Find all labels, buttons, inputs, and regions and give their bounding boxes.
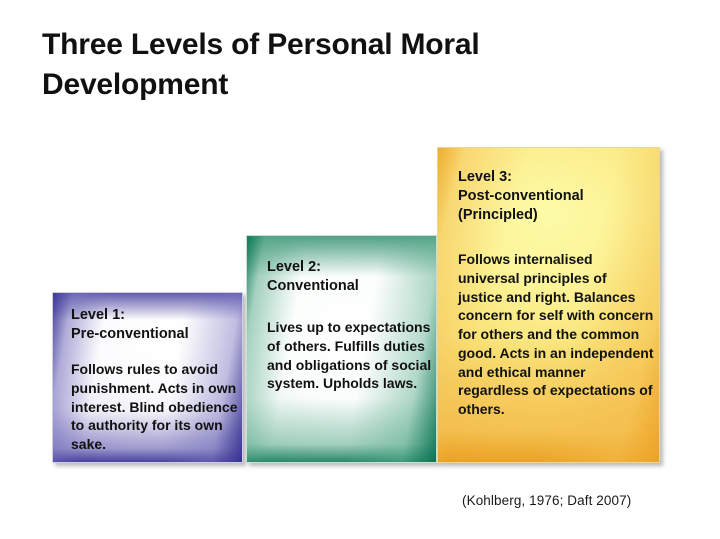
level-3-body: Follows internalised universal principle… bbox=[458, 250, 654, 419]
level-1-body: Follows rules to avoid punishment. Acts … bbox=[71, 360, 241, 454]
level-1-heading: Level 1: Pre-conventional bbox=[71, 306, 239, 344]
slide-canvas: Three Levels of Personal Moral Developme… bbox=[0, 0, 720, 539]
level-2-body: Lives up to expectations of others. Fulf… bbox=[267, 318, 437, 393]
level-2-box[interactable]: Level 2: Conventional Lives up to expect… bbox=[246, 235, 437, 463]
level-1-box[interactable]: Level 1: Pre-conventional Follows rules … bbox=[52, 292, 243, 463]
level-3-box[interactable]: Level 3: Post-conventional (Principled) … bbox=[437, 147, 660, 463]
level-2-heading: Level 2: Conventional bbox=[267, 258, 435, 296]
level-3-heading: Level 3: Post-conventional (Principled) bbox=[458, 168, 658, 225]
source-citation: (Kohlberg, 1976; Daft 2007) bbox=[462, 493, 631, 508]
page-title: Three Levels of Personal Moral Developme… bbox=[42, 25, 662, 104]
